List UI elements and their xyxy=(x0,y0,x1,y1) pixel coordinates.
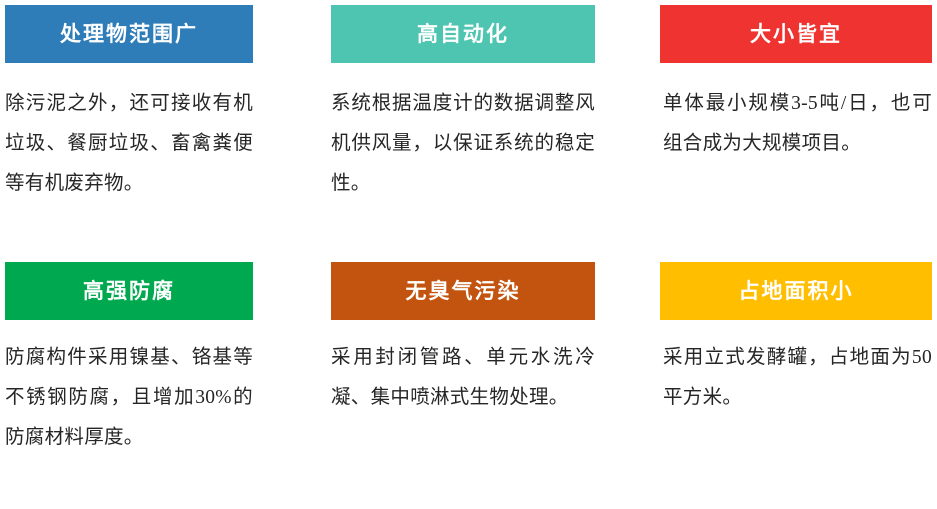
card-header-bar-any-scale: 大小皆宜 xyxy=(660,5,932,63)
feature-card-high-automation: 高自动化 系统根据温度计的数据调整风机供风量，以保证系统的稳定性。 xyxy=(320,0,640,255)
card-title-no-odor-pollution: 无臭气污染 xyxy=(406,281,521,302)
card-body-no-odor-pollution: 采用封闭管路、单元水洗冷凝、集中喷淋式生物处理。 xyxy=(331,338,595,418)
feature-card-high-corrosion-resistance: 高强防腐 防腐构件采用镍基、铬基等不锈钢防腐，且增加30%的防腐材料厚度。 xyxy=(0,255,320,509)
feature-card-small-footprint: 占地面积小 采用立式发酵罐，占地面为50平方米。 xyxy=(640,255,937,509)
card-body-processing-range: 除污泥之外，还可接收有机垃圾、餐厨垃圾、畜禽粪便等有机废弃物。 xyxy=(5,84,253,204)
card-title-any-scale: 大小皆宜 xyxy=(750,24,842,45)
card-header-bar-small-footprint: 占地面积小 xyxy=(660,262,932,320)
card-header-bar-high-automation: 高自动化 xyxy=(331,5,595,63)
feature-card-any-scale: 大小皆宜 单体最小规模3-5吨/日，也可组合成为大规模项目。 xyxy=(640,0,937,255)
card-header-bar-high-corrosion-resistance: 高强防腐 xyxy=(5,262,253,320)
card-body-small-footprint: 采用立式发酵罐，占地面为50平方米。 xyxy=(660,338,932,418)
card-header-bar-processing-range: 处理物范围广 xyxy=(5,5,253,63)
card-body-any-scale: 单体最小规模3-5吨/日，也可组合成为大规模项目。 xyxy=(660,84,932,164)
card-header-bar-no-odor-pollution: 无臭气污染 xyxy=(331,262,595,320)
card-title-small-footprint: 占地面积小 xyxy=(739,281,854,302)
card-title-high-automation: 高自动化 xyxy=(417,24,509,45)
card-title-high-corrosion-resistance: 高强防腐 xyxy=(83,281,175,302)
card-body-high-automation: 系统根据温度计的数据调整风机供风量，以保证系统的稳定性。 xyxy=(331,84,595,204)
feature-card-grid: 处理物范围广 除污泥之外，还可接收有机垃圾、餐厨垃圾、畜禽粪便等有机废弃物。 高… xyxy=(0,0,937,509)
feature-card-processing-range: 处理物范围广 除污泥之外，还可接收有机垃圾、餐厨垃圾、畜禽粪便等有机废弃物。 xyxy=(0,0,320,255)
card-title-processing-range: 处理物范围广 xyxy=(60,24,198,45)
card-body-high-corrosion-resistance: 防腐构件采用镍基、铬基等不锈钢防腐，且增加30%的防腐材料厚度。 xyxy=(5,338,253,458)
feature-card-no-odor-pollution: 无臭气污染 采用封闭管路、单元水洗冷凝、集中喷淋式生物处理。 xyxy=(320,255,640,509)
